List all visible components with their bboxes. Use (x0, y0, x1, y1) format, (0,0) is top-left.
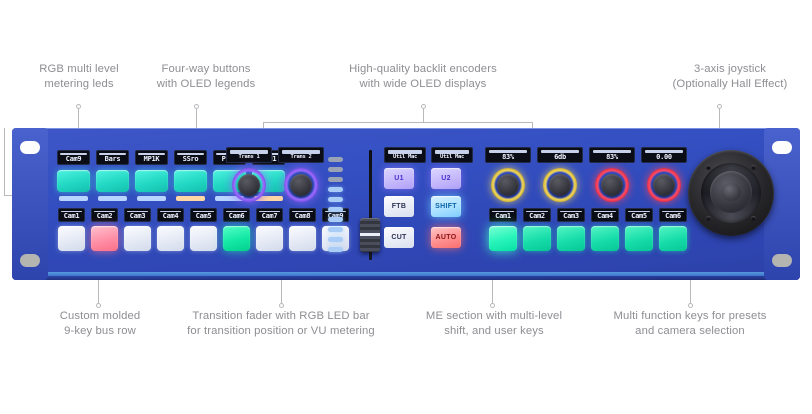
bus-key-5[interactable] (223, 226, 250, 251)
oled-label: Cam5 (631, 212, 647, 221)
bus-oled-6: Cam7 (256, 208, 283, 222)
me-key-u2[interactable]: U2 (431, 168, 461, 189)
mf-oled-0: Cam1 (489, 208, 517, 222)
me-key-auto[interactable]: AUTO (431, 227, 461, 248)
bus-key-6[interactable] (256, 226, 283, 251)
encoder-knob[interactable] (653, 174, 675, 196)
leader-dot-joystick (717, 104, 722, 109)
four-way-button-1[interactable] (96, 170, 129, 192)
led-meter-segment-5 (328, 207, 343, 212)
rack-ear-left (12, 128, 48, 280)
fourway-indicator-1 (98, 196, 127, 201)
joystick-screw-tl (706, 165, 711, 170)
encoder-knob[interactable] (549, 174, 571, 196)
audio-encoder-1[interactable] (543, 168, 577, 202)
bus-oled-7: Cam8 (289, 208, 316, 222)
me-key-shift[interactable]: SHIFT (431, 196, 461, 217)
leader-dot-fourway (194, 104, 199, 109)
oled-value: 83% (502, 153, 514, 162)
right-encoder-oled-1: 6db (537, 147, 583, 163)
oled-label: Cam2 (97, 212, 113, 221)
panel-top-strip (12, 128, 800, 133)
oled-label: Cam1 (64, 212, 80, 221)
callout-rgb-metering-leds: RGB multi level metering leds (20, 62, 138, 91)
fourway-indicator-0 (59, 196, 88, 201)
transition-encoder-0[interactable] (232, 168, 266, 202)
right-encoder-oled-2: 83% (589, 147, 635, 163)
oled-label: Cam7 (262, 212, 278, 221)
led-meter-segment-0 (328, 157, 343, 162)
rack-hole-bottom-right (772, 254, 792, 267)
me-user-oled-1: Util Mac (431, 147, 473, 163)
oled-value: 83% (606, 153, 618, 162)
led-meter-segment-3 (328, 187, 343, 192)
fader-knob[interactable] (360, 218, 380, 252)
leader-rgb-vertical (78, 106, 79, 128)
oled-label: Trans 1 (238, 154, 259, 161)
fourway-oled-0: Cam9 (57, 150, 90, 165)
oled-label: Cam3 (130, 212, 146, 221)
zoom-focus-encoder-3[interactable] (647, 168, 681, 202)
mf-oled-1: Cam2 (523, 208, 551, 222)
four-way-button-0[interactable] (57, 170, 90, 192)
bus-oled-5: Cam6 (223, 208, 250, 222)
oled-label: Cam6 (665, 212, 681, 221)
led-meter-segment-4 (328, 197, 343, 202)
oled-label: Util Mac (393, 154, 417, 161)
callout-me-section: ME section with multi-level shift, and u… (408, 309, 580, 338)
left-encoder-oled-1: Trans 2 (278, 147, 324, 163)
bus-key-3[interactable] (157, 226, 184, 251)
right-encoder-oled-0: 83% (485, 147, 531, 163)
rack-hole-top-right (772, 141, 792, 154)
left-encoder-oled-0: Trans 1 (226, 147, 272, 163)
oled-label: MP1K (144, 155, 160, 164)
oled-value: 6db (554, 153, 566, 162)
callout-joystick: 3-axis joystick (Optionally Hall Effect) (650, 62, 810, 91)
multi-function-key-4[interactable] (625, 226, 653, 251)
diagram-stage: RGB multi level metering leds Four-way b… (0, 0, 812, 414)
four-way-button-2[interactable] (135, 170, 168, 192)
me-key-u1[interactable]: U1 (384, 168, 414, 189)
led-meter-segment-7 (328, 227, 343, 232)
four-way-button-3[interactable] (174, 170, 207, 192)
fourway-oled-3: SSro (174, 150, 207, 165)
fourway-indicator-3 (176, 196, 205, 201)
oled-label: Bars (105, 155, 121, 164)
leader-busrow-vertical (98, 278, 99, 306)
me-user-oled-0: Util Mac (384, 147, 426, 163)
encoder-knob[interactable] (290, 174, 312, 196)
oled-label: Cam4 (163, 212, 179, 221)
bus-key-1[interactable] (91, 226, 118, 251)
bus-key-4[interactable] (190, 226, 217, 251)
multi-function-key-2[interactable] (557, 226, 585, 251)
callout-multi-function-keys: Multi function keys for presets and came… (592, 309, 788, 338)
encoder-knob[interactable] (497, 174, 519, 196)
right-encoder-oled-3: 0.00 (641, 147, 687, 163)
mf-oled-2: Cam3 (557, 208, 585, 222)
leader-dot-rgb (76, 104, 81, 109)
control-panel: Cam9 Bars MP1K SSro Pgm1 Cfd1 (12, 128, 800, 280)
oled-label: Trans 2 (290, 154, 311, 161)
bus-oled-2: Cam3 (124, 208, 151, 222)
bus-oled-0: Cam1 (58, 208, 85, 222)
oled-label: SSro (183, 155, 199, 164)
panel-bottom-led-strip (32, 272, 780, 276)
leader-dot-busrow (96, 303, 101, 308)
oled-label: Cam4 (597, 212, 613, 221)
mf-oled-3: Cam4 (591, 208, 619, 222)
joystick[interactable] (688, 150, 774, 236)
encoder-knob[interactable] (238, 174, 260, 196)
fader-knob-line (360, 233, 380, 236)
aux-encoder-2[interactable] (595, 168, 629, 202)
leader-dot-mfkeys (688, 303, 693, 308)
mf-oled-5: Cam6 (659, 208, 687, 222)
oled-label: Cam5 (196, 212, 212, 221)
mf-oled-4: Cam5 (625, 208, 653, 222)
multi-function-key-3[interactable] (591, 226, 619, 251)
me-key-cut[interactable]: CUT (384, 227, 414, 248)
me-key-ftb[interactable]: FTB (384, 196, 414, 217)
multi-function-key-0[interactable] (489, 226, 517, 251)
leader-dot-encoders (421, 104, 426, 109)
leader-dot-fader (279, 303, 284, 308)
callout-transition-fader: Transition fader with RGB LED bar for tr… (172, 309, 390, 338)
rack-hole-top-left (20, 141, 40, 154)
oled-label: Cam3 (563, 212, 579, 221)
multi-function-key-1[interactable] (523, 226, 551, 251)
callout-backlit-encoders: High-quality backlit encoders with wide … (323, 62, 523, 91)
bus-key-2[interactable] (124, 226, 151, 251)
joystick-cap[interactable] (721, 183, 741, 201)
joystick-screw-br (751, 216, 756, 221)
bus-oled-1: Cam2 (91, 208, 118, 222)
callout-four-way-buttons: Four-way buttons with OLED legends (142, 62, 270, 91)
oled-label: Cam1 (495, 212, 511, 221)
oled-label: Cam8 (295, 212, 311, 221)
led-meter-segment-9 (328, 247, 343, 252)
rack-hole-bottom-left (20, 254, 40, 267)
audio-encoder-0[interactable] (491, 168, 525, 202)
fourway-indicator-2 (137, 196, 166, 201)
joystick-screw-bl (706, 216, 711, 221)
led-meter-segment-1 (328, 167, 343, 172)
oled-label: Cam6 (229, 212, 245, 221)
leader-dot-me (490, 303, 495, 308)
bus-key-0[interactable] (58, 226, 85, 251)
led-meter-segment-6 (328, 217, 343, 222)
multi-function-key-5[interactable] (659, 226, 687, 251)
fourway-oled-1: Bars (96, 150, 129, 165)
joystick-screw-tr (751, 165, 756, 170)
encoder-knob[interactable] (601, 174, 623, 196)
bus-oled-3: Cam4 (157, 208, 184, 222)
led-meter-segment-8 (328, 237, 343, 242)
bus-oled-4: Cam5 (190, 208, 217, 222)
fourway-oled-2: MP1K (135, 150, 168, 165)
oled-label: Cam9 (66, 155, 82, 164)
oled-value: 0.00 (656, 153, 672, 162)
callout-bus-row: Custom molded 9-key bus row (40, 309, 160, 338)
oled-label: Cam2 (529, 212, 545, 221)
bus-key-7[interactable] (289, 226, 316, 251)
oled-label: Util Mac (440, 154, 464, 161)
led-meter-segment-2 (328, 177, 343, 182)
transition-encoder-1[interactable] (284, 168, 318, 202)
